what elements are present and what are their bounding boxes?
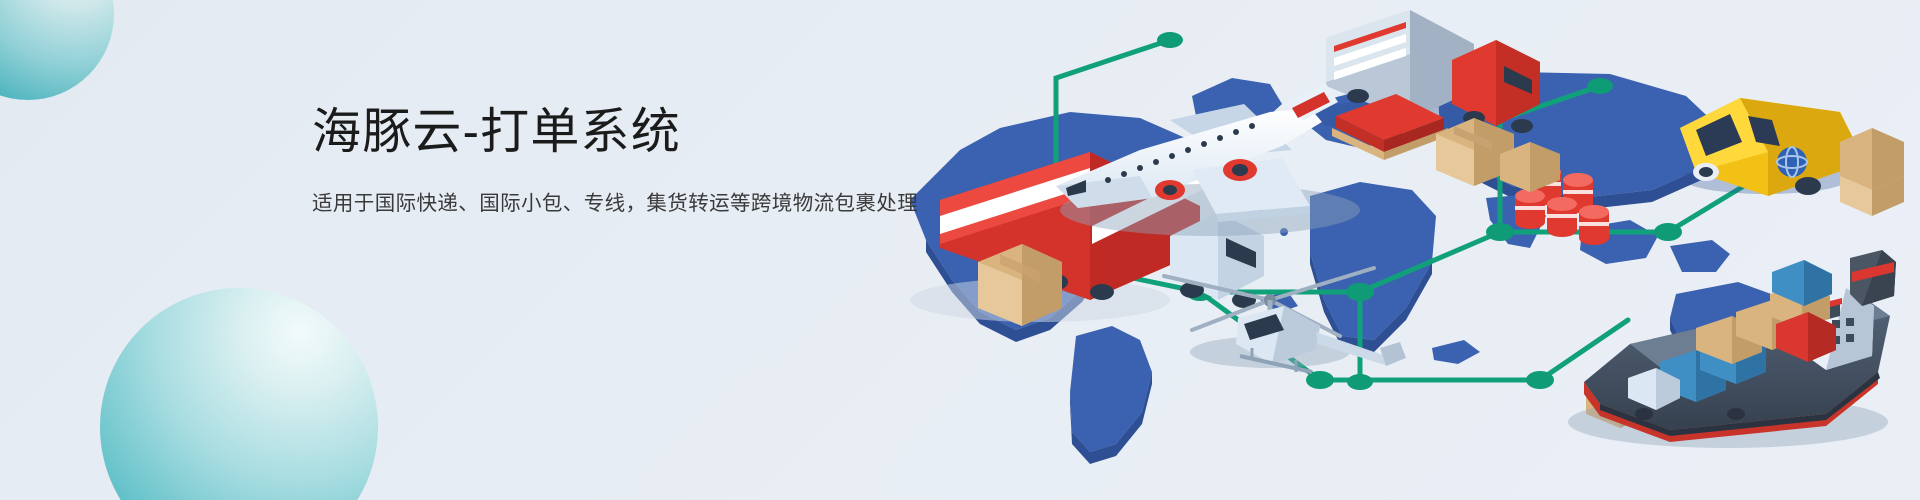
banner-text-block: 海豚云-打单系统 适用于国际快递、国际小包、专线，集货转运等跨境物流包裹处理 (312, 104, 918, 219)
hero-banner: 海豚云-打单系统 适用于国际快递、国际小包、专线，集货转运等跨境物流包裹处理 (0, 0, 1920, 500)
page-title: 海豚云-打单系统 (312, 104, 918, 162)
teal-gradient-circle-bottom (100, 288, 378, 500)
page-subtitle: 适用于国际快递、国际小包、专线，集货转运等跨境物流包裹处理 (312, 190, 918, 219)
yellow-delivery-van (1680, 98, 1904, 216)
container-cargo-ship (1568, 250, 1896, 448)
cardboard-boxes (1840, 128, 1904, 216)
teal-gradient-circle-top (0, 0, 114, 100)
global-logistics-illustration (840, 0, 1920, 500)
